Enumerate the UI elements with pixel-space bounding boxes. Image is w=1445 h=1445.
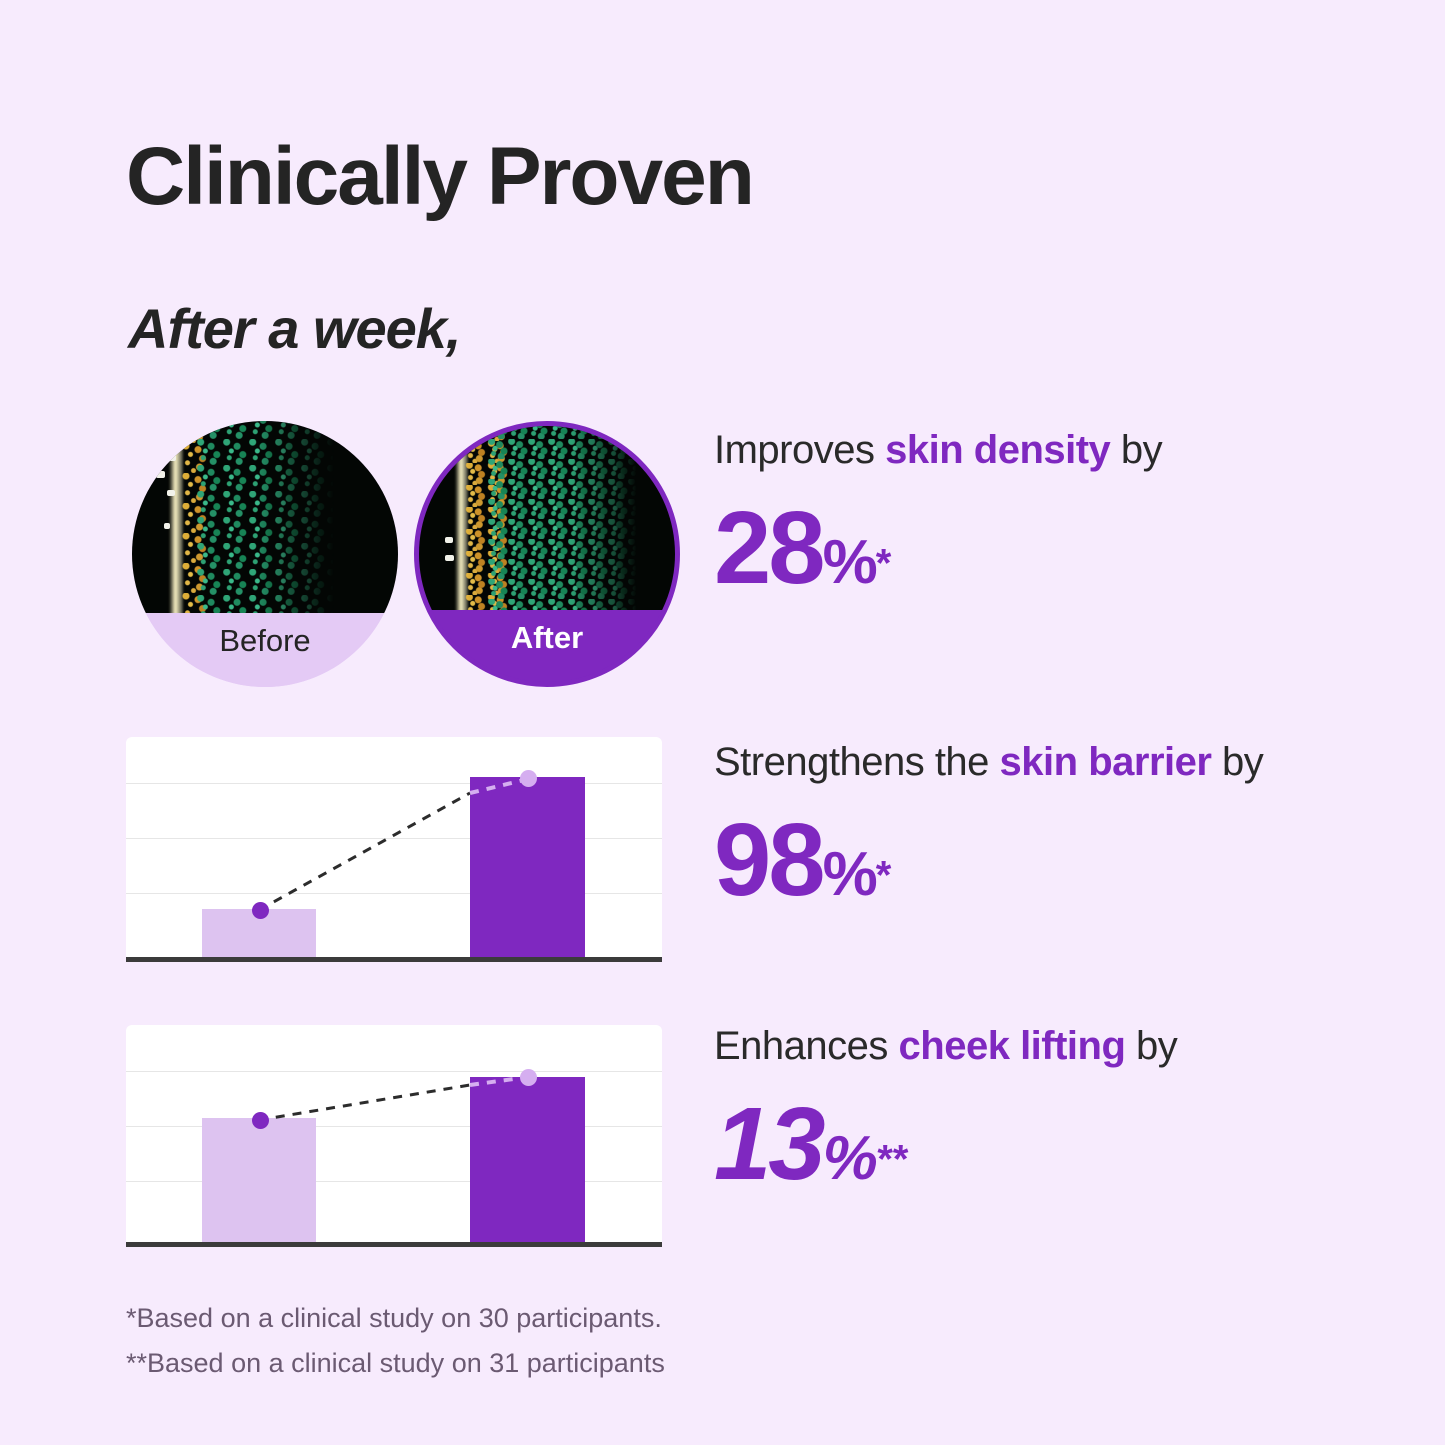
footnote-single-asterisk: *Based on a clinical study on 30 partici… xyxy=(126,1296,665,1341)
page-title: Clinically Proven xyxy=(126,134,753,220)
claim-1-value: 28%* xyxy=(714,489,1162,607)
axis-baseline xyxy=(126,1242,662,1247)
chart-cheek-lifting xyxy=(126,1025,662,1247)
footnotes: *Based on a clinical study on 30 partici… xyxy=(126,1296,665,1385)
subheading: After a week, xyxy=(128,300,461,359)
trend-connector xyxy=(126,737,662,962)
before-image-circle: Before xyxy=(132,421,398,687)
ultrasound-scan-after-icon xyxy=(419,426,675,610)
claim-3-text: Enhances cheek lifting by xyxy=(714,1024,1177,1069)
after-image-circle: After xyxy=(414,421,680,687)
claim-1-text: Improves skin density by xyxy=(714,428,1162,473)
footnote-double-asterisk: **Based on a clinical study on 31 partic… xyxy=(126,1341,665,1386)
data-point-after xyxy=(520,1069,537,1086)
claim-skin-barrier: Strengthens the skin barrier by 98%* xyxy=(714,740,1263,919)
claim-3-value: 13%** xyxy=(714,1085,1177,1203)
chart-skin-barrier xyxy=(126,737,662,962)
trend-connector xyxy=(126,1025,662,1247)
before-label: Before xyxy=(132,613,398,687)
claim-2-value: 98%* xyxy=(714,801,1263,919)
data-point-before xyxy=(252,902,269,919)
after-label: After xyxy=(419,610,675,682)
data-point-after xyxy=(520,770,537,787)
before-after-comparison: Before After xyxy=(126,421,686,691)
claim-cheek-lifting: Enhances cheek lifting by 13%** xyxy=(714,1024,1177,1203)
data-point-before xyxy=(252,1112,269,1129)
axis-baseline xyxy=(126,957,662,962)
ultrasound-scan-before-icon xyxy=(132,421,398,613)
claim-skin-density: Improves skin density by 28%* xyxy=(714,428,1162,607)
claim-2-text: Strengthens the skin barrier by xyxy=(714,740,1263,785)
